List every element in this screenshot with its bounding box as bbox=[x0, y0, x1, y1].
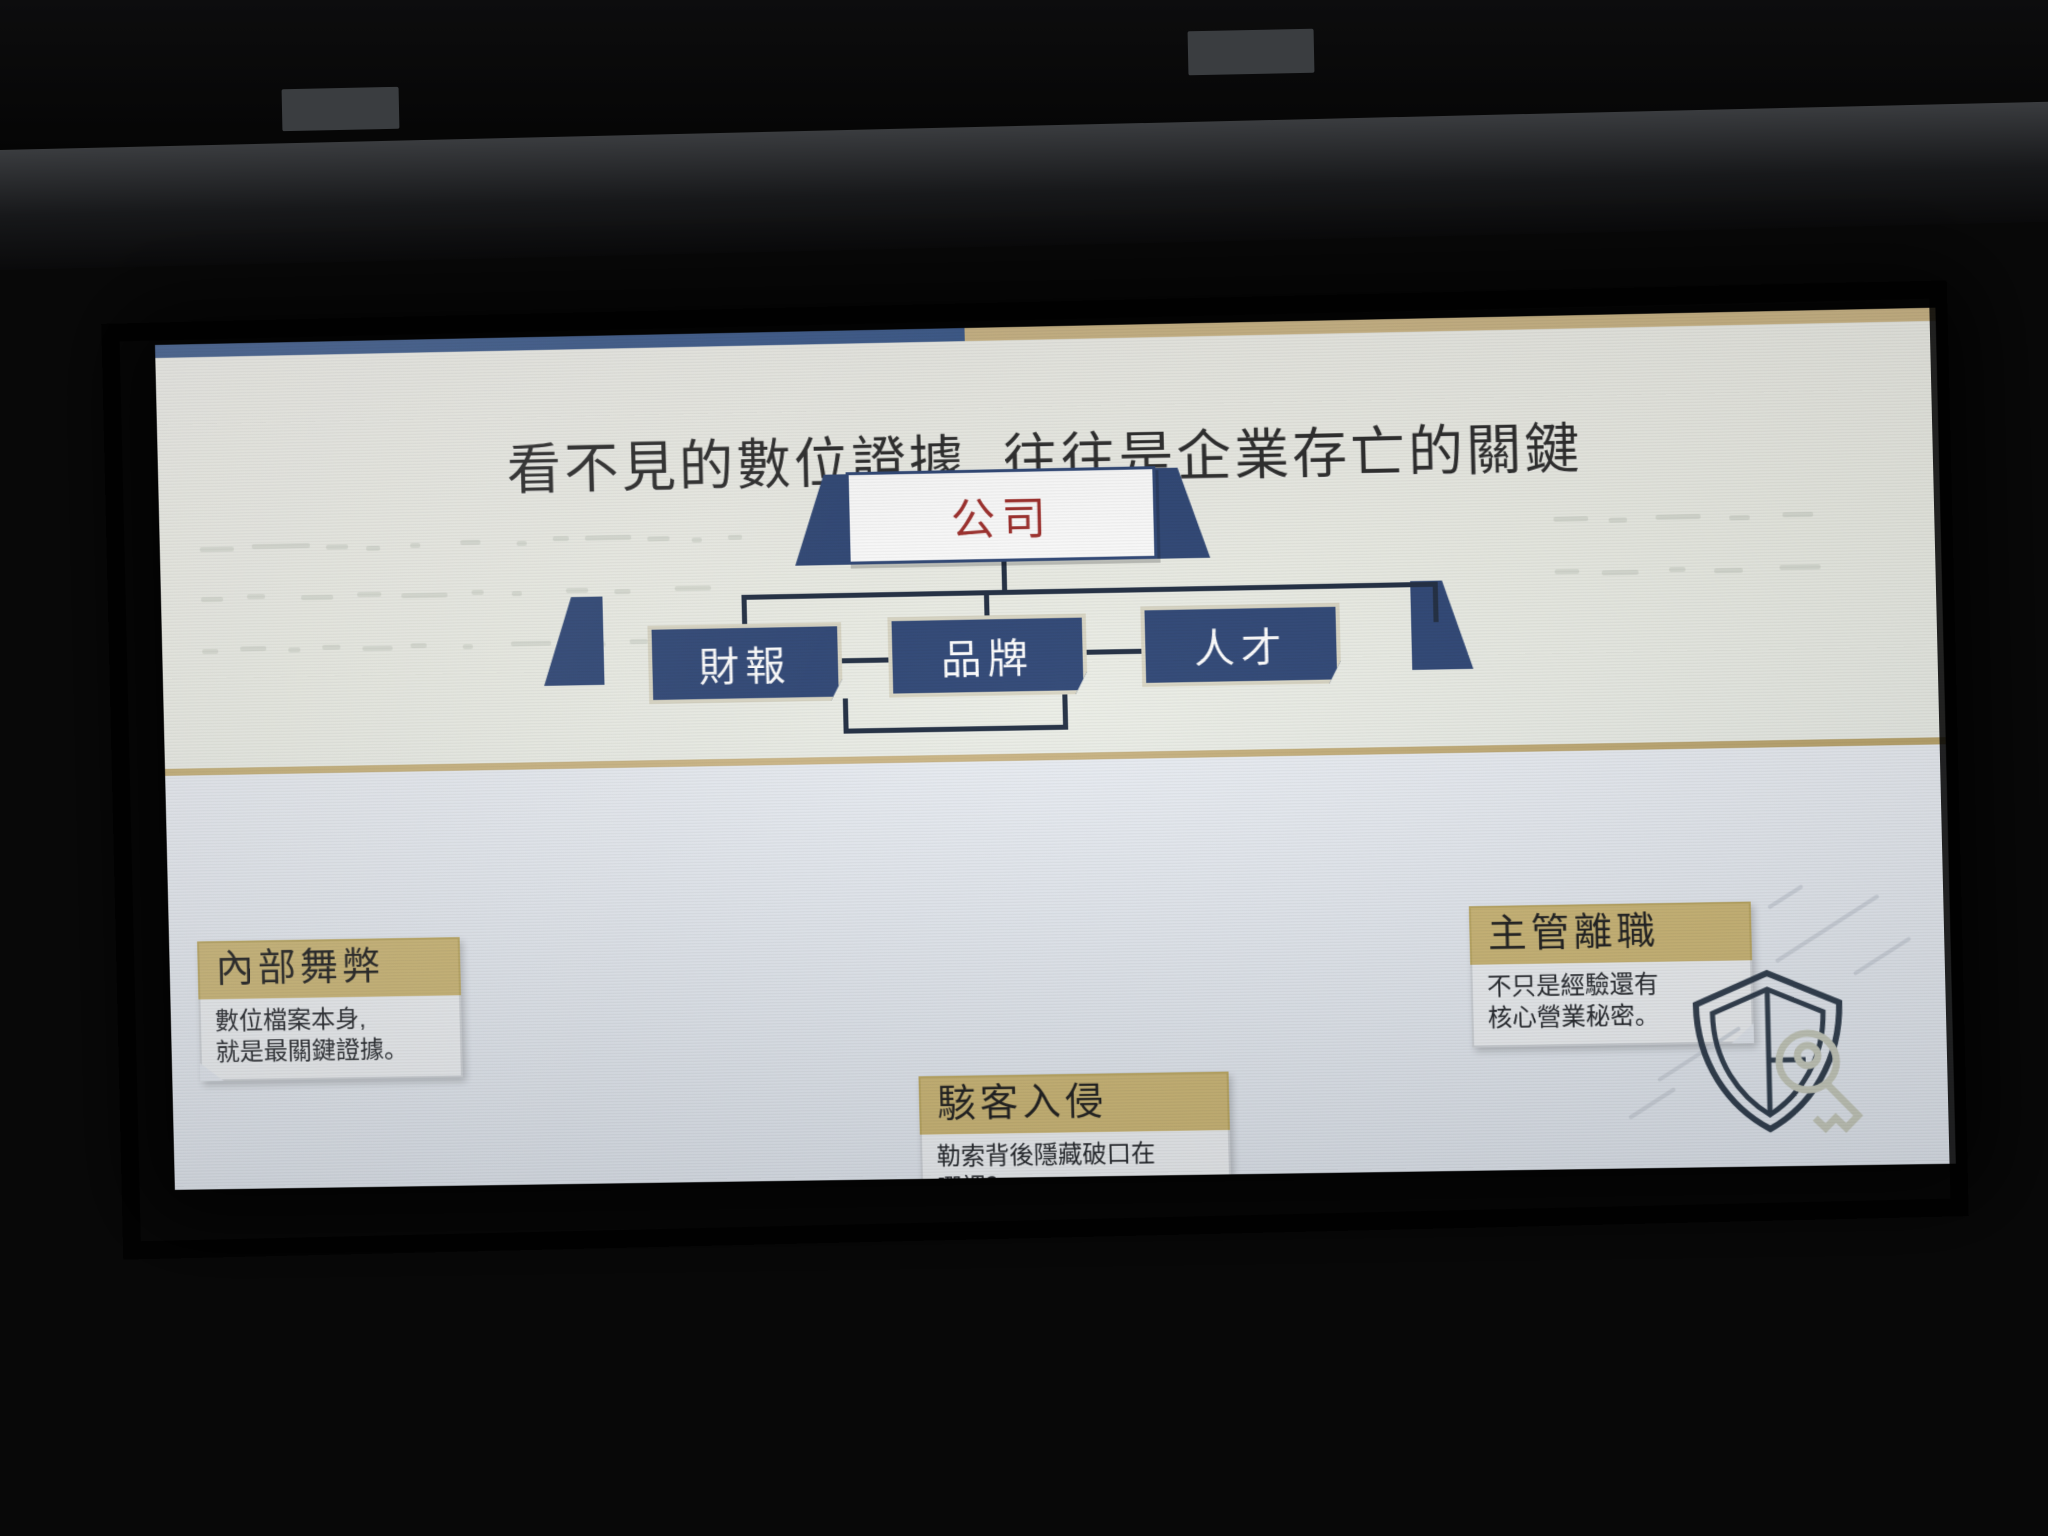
connector-horizontal bbox=[741, 582, 1436, 600]
connector-lower-bar bbox=[844, 725, 1069, 734]
projection-screen: 看不見的數位證據, 往往是企業存亡的關鍵 bbox=[155, 308, 1956, 1190]
pyramid-shape-top-right bbox=[1155, 467, 1210, 559]
connector-brand-right bbox=[1087, 649, 1144, 655]
callout-hacker-intrusion[interactable]: 駭客入侵 勒索背後隱藏破口在 哪裡？ bbox=[918, 1072, 1231, 1190]
org-chart: 公司 財報 品牌 人才 bbox=[158, 429, 1946, 765]
callout-internal-fraud[interactable]: 內部舞弊 數位檔案本身, 就是最關鍵證據。 bbox=[197, 937, 463, 1081]
projection-screen-area: 看不見的數位證據, 往往是企業存亡的關鍵 bbox=[0, 0, 2048, 1536]
network-links bbox=[175, 1181, 1956, 1190]
shield-key-icon bbox=[1668, 961, 1867, 1141]
callout-internal-fraud-body: 數位檔案本身, 就是最關鍵證據。 bbox=[198, 995, 463, 1082]
pyramid-shape-base-left bbox=[542, 597, 604, 686]
connector-fin-right bbox=[842, 657, 891, 663]
pyramid-shape-top-left bbox=[793, 474, 848, 565]
org-node-company[interactable]: 公司 bbox=[846, 466, 1158, 565]
network-graph bbox=[175, 1181, 1956, 1190]
org-node-financial-report[interactable]: 財報 bbox=[647, 622, 842, 704]
presentation-slide: 看不見的數位證據, 往往是企業存亡的關鍵 bbox=[155, 308, 1956, 1190]
projection-room: 看不見的數位證據, 往往是企業存亡的關鍵 bbox=[0, 0, 2048, 1536]
connector-lower-stub-b bbox=[1062, 694, 1068, 726]
callout-hacker-intrusion-heading: 駭客入侵 bbox=[918, 1072, 1229, 1135]
callout-hacker-intrusion-body: 勒索背後隱藏破口在 哪裡？ bbox=[920, 1130, 1232, 1190]
org-node-brand[interactable]: 品牌 bbox=[887, 614, 1087, 698]
slide-lower-panel: 內部舞弊 數位檔案本身, 就是最關鍵證據。 主管離職 不只是經驗還有 核心營業秘… bbox=[165, 744, 1956, 1190]
connector-root-down bbox=[1001, 562, 1007, 592]
callout-executive-departure-heading: 主管離職 bbox=[1469, 902, 1752, 965]
connector-talent-down bbox=[1433, 582, 1439, 622]
connector-lower-stub-a bbox=[843, 698, 849, 730]
pyramid-shape-base-right bbox=[1410, 580, 1473, 670]
callout-internal-fraud-heading: 內部舞弊 bbox=[197, 937, 461, 999]
org-node-talent[interactable]: 人才 bbox=[1140, 603, 1341, 687]
